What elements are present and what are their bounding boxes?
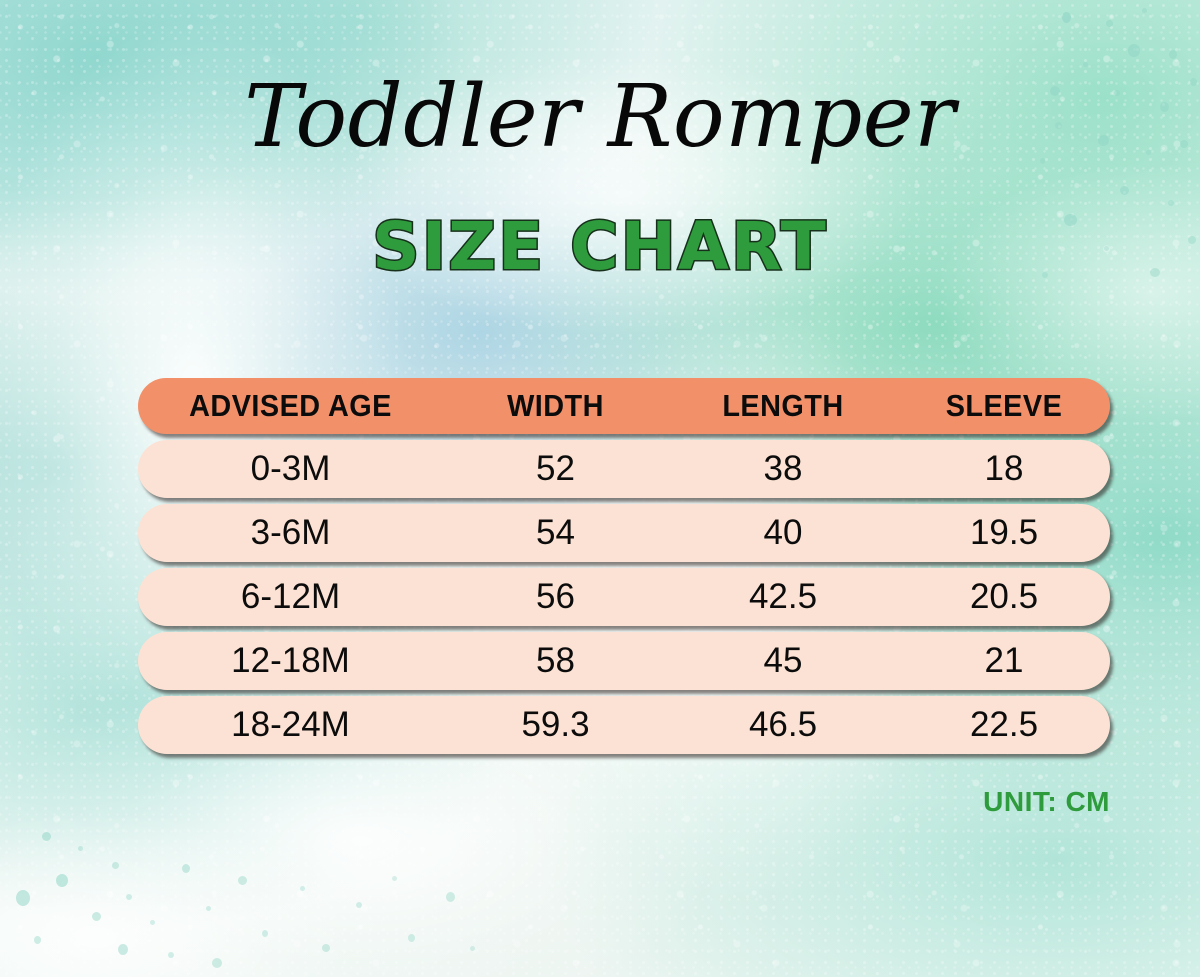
cell-length: 46.5 xyxy=(668,705,898,745)
table-row: 6-12M 56 42.5 20.5 xyxy=(138,568,1110,626)
table-header-row: ADVISED AGE WIDTH LENGTH SLEEVE xyxy=(138,378,1110,434)
column-header-width: WIDTH xyxy=(451,388,660,424)
column-header-advised-age: ADVISED AGE xyxy=(149,388,433,424)
cell-width: 59.3 xyxy=(443,705,668,745)
column-header-length: LENGTH xyxy=(676,388,890,424)
column-header-sleeve: SLEEVE xyxy=(905,388,1102,424)
cell-width: 54 xyxy=(443,513,668,553)
cell-sleeve: 22.5 xyxy=(898,705,1110,745)
cell-length: 40 xyxy=(668,513,898,553)
table-row: 3-6M 54 40 19.5 xyxy=(138,504,1110,562)
cell-width: 52 xyxy=(443,449,668,489)
page-subtitle: SIZE CHART xyxy=(0,214,1200,280)
size-chart-table: ADVISED AGE WIDTH LENGTH SLEEVE 0-3M 52 … xyxy=(138,378,1110,760)
cell-advised-age: 3-6M xyxy=(138,513,443,553)
page-title: Toddler Romper xyxy=(0,74,1200,160)
cell-width: 58 xyxy=(443,641,668,681)
cell-width: 56 xyxy=(443,577,668,617)
cell-sleeve: 19.5 xyxy=(898,513,1110,553)
cell-length: 45 xyxy=(668,641,898,681)
cell-sleeve: 20.5 xyxy=(898,577,1110,617)
size-chart-canvas: Toddler Romper SIZE CHART ADVISED AGE WI… xyxy=(0,0,1200,977)
table-row: 18-24M 59.3 46.5 22.5 xyxy=(138,696,1110,754)
cell-advised-age: 0-3M xyxy=(138,449,443,489)
unit-note: UNIT: CM xyxy=(983,786,1110,818)
cell-advised-age: 18-24M xyxy=(138,705,443,745)
cell-length: 38 xyxy=(668,449,898,489)
cell-sleeve: 21 xyxy=(898,641,1110,681)
table-row: 0-3M 52 38 18 xyxy=(138,440,1110,498)
cell-sleeve: 18 xyxy=(898,449,1110,489)
cell-length: 42.5 xyxy=(668,577,898,617)
cell-advised-age: 12-18M xyxy=(138,641,443,681)
table-row: 12-18M 58 45 21 xyxy=(138,632,1110,690)
cell-advised-age: 6-12M xyxy=(138,577,443,617)
